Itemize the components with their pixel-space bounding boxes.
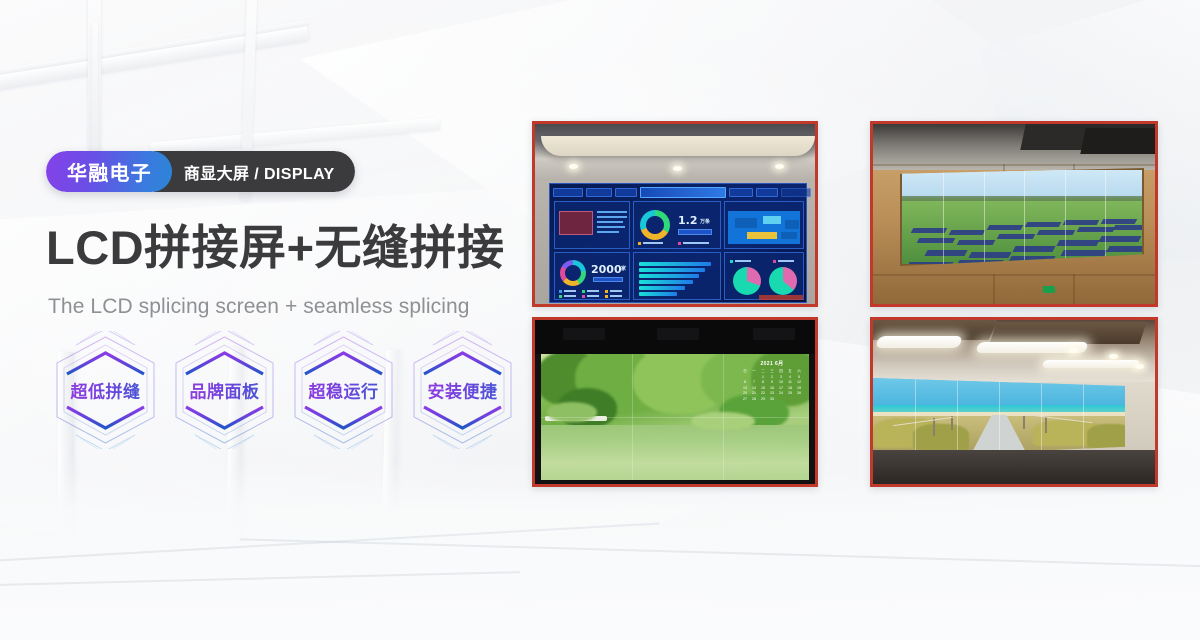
- photo-beach-videowall: [870, 317, 1158, 487]
- beach-scene-screen: [873, 378, 1125, 458]
- dashboard-secondary-value: 2000: [591, 263, 622, 276]
- lake-scene-screen: 2021 6月 日一二三四五六 12345 6789101112 1314151…: [541, 354, 809, 480]
- photo-lake-videowall: 2021 6月 日一二三四五六 12345 6789101112 1314151…: [532, 317, 818, 487]
- photo-beach-image: [873, 320, 1155, 484]
- brand-name: 华融电子: [46, 151, 172, 192]
- calendar-month: 6月: [775, 361, 784, 367]
- feature-badge-label: 品牌面板: [165, 378, 284, 403]
- feature-badge-list: 超低拼缝 品牌面板: [46, 331, 522, 449]
- feature-badge-3: 超稳运行: [284, 331, 403, 449]
- solar-farm-screen: [900, 168, 1144, 266]
- brand-category: 商显大屏 / DISPLAY: [154, 151, 355, 192]
- calendar-year: 2021: [760, 361, 773, 367]
- dashboard-secondary-unit: 家: [621, 265, 626, 272]
- dashboard-kpi-value: 1.2: [678, 214, 698, 227]
- product-banner: 华融电子 商显大屏 / DISPLAY LCD拼接屏+无缝拼接 The LCD …: [0, 0, 1200, 640]
- exit-sign-icon: [1043, 286, 1055, 293]
- feature-badge-4: 安装便捷: [403, 331, 522, 449]
- photo-solar-videowall: [870, 121, 1158, 307]
- feature-badge-1: 超低拼缝: [46, 331, 165, 449]
- feature-badge-2: 品牌面板: [165, 331, 284, 449]
- brand-bar: 华融电子 商显大屏 / DISPLAY: [46, 151, 355, 192]
- page-subtitle: The LCD splicing screen + seamless splic…: [48, 295, 470, 319]
- photo-lake-image: 2021 6月 日一二三四五六 12345 6789101112 1314151…: [535, 320, 815, 484]
- dashboard-kpi-unit: 万条: [700, 218, 710, 225]
- feature-badge-label: 超稳运行: [284, 378, 403, 403]
- dashboard-screen: 1.2 万条: [549, 183, 807, 303]
- photo-dashboard-videowall: 1.2 万条: [532, 121, 818, 307]
- photo-solar-image: [873, 124, 1155, 304]
- calendar-overlay: 2021 6月 日一二三四五六 12345 6789101112 1314151…: [741, 360, 803, 408]
- calendar-grid: 日一二三四五六 12345 6789101112 13141516171819 …: [741, 369, 803, 402]
- feature-badge-label: 超低拼缝: [46, 378, 165, 403]
- product-photo-grid: 1.2 万条: [532, 121, 1160, 487]
- photo-dashboard-image: 1.2 万条: [535, 124, 815, 304]
- feature-badge-label: 安装便捷: [403, 378, 522, 403]
- banner-text-column: 华融电子 商显大屏 / DISPLAY LCD拼接屏+无缝拼接 The LCD …: [46, 0, 546, 640]
- page-title: LCD拼接屏+无缝拼接: [46, 224, 505, 271]
